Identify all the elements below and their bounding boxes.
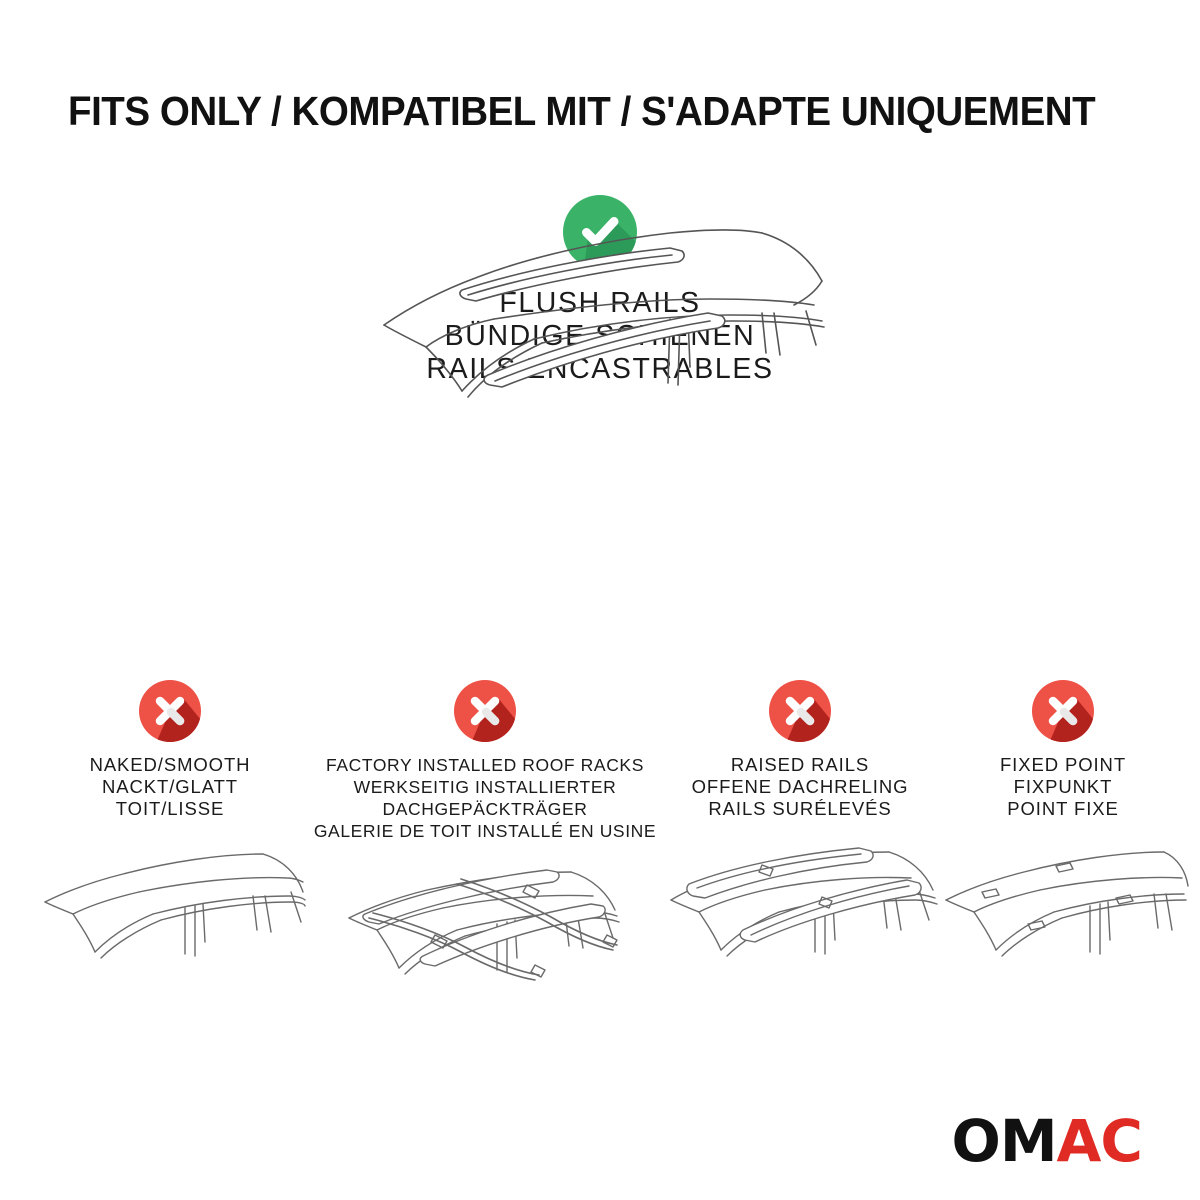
car-roof-naked-smooth-illustration	[35, 834, 305, 1009]
not-compatible-item-fixed-point: FIXED POINT FIXPUNKT POINT FIXE	[948, 680, 1178, 1009]
item-label-line-fr: POINT FIXE	[1000, 798, 1126, 820]
logo-text-ac: AC	[1057, 1107, 1142, 1175]
item-label-line-en: FIXED POINT	[1000, 754, 1126, 776]
item-label-line-en: RAISED RAILS	[692, 754, 909, 776]
item-label-line-fr: GALERIE DE TOIT INSTALLÉ EN USINE	[314, 820, 656, 842]
car-roof-raised-rails-illustration	[655, 834, 945, 1009]
item-label-line-de-1: WERKSEITIG INSTALLIERTER	[314, 776, 656, 798]
item-label: NAKED/SMOOTH NACKT/GLATT TOIT/LISSE	[90, 754, 251, 820]
item-label: FIXED POINT FIXPUNKT POINT FIXE	[1000, 754, 1126, 820]
x-circle-icon	[454, 680, 516, 742]
page-title: FITS ONLY / KOMPATIBEL MIT / S'ADAPTE UN…	[68, 88, 1074, 135]
item-label: RAISED RAILS OFFENE DACHRELING RAILS SUR…	[692, 754, 909, 820]
not-compatible-item-raised-rails: RAISED RAILS OFFENE DACHRELING RAILS SUR…	[665, 680, 935, 1009]
item-label-line-fr: TOIT/LISSE	[90, 798, 251, 820]
item-label-line-de: FIXPUNKT	[1000, 776, 1126, 798]
not-compatible-row: NAKED/SMOOTH NACKT/GLATT TOIT/LISSE	[0, 680, 1200, 1031]
item-label-line-de: OFFENE DACHRELING	[692, 776, 909, 798]
item-label-line-de-2: DACHGEPÄCKTRÄGER	[314, 798, 656, 820]
omac-logo: OMAC	[952, 1112, 1142, 1170]
item-label-line-de: NACKT/GLATT	[90, 776, 251, 798]
car-roof-fixed-point-illustration	[938, 834, 1188, 1009]
car-roof-with-flush-rails-illustration	[0, 215, 1200, 445]
car-roof-factory-roof-racks-illustration	[335, 856, 635, 1031]
item-label-line-en: NAKED/SMOOTH	[90, 754, 251, 776]
logo-text-om: OM	[952, 1107, 1057, 1175]
infographic-page: FITS ONLY / KOMPATIBEL MIT / S'ADAPTE UN…	[0, 0, 1200, 1200]
item-label: FACTORY INSTALLED ROOF RACKS WERKSEITIG …	[314, 754, 656, 842]
not-compatible-item-naked-smooth: NAKED/SMOOTH NACKT/GLATT TOIT/LISSE	[25, 680, 315, 1009]
not-compatible-item-factory-roof-racks: FACTORY INSTALLED ROOF RACKS WERKSEITIG …	[315, 680, 655, 1031]
item-label-line-fr: RAILS SURÉLEVÉS	[692, 798, 909, 820]
item-label-line-en: FACTORY INSTALLED ROOF RACKS	[314, 754, 656, 776]
x-circle-icon	[139, 680, 201, 742]
x-circle-icon	[1032, 680, 1094, 742]
x-circle-icon	[769, 680, 831, 742]
